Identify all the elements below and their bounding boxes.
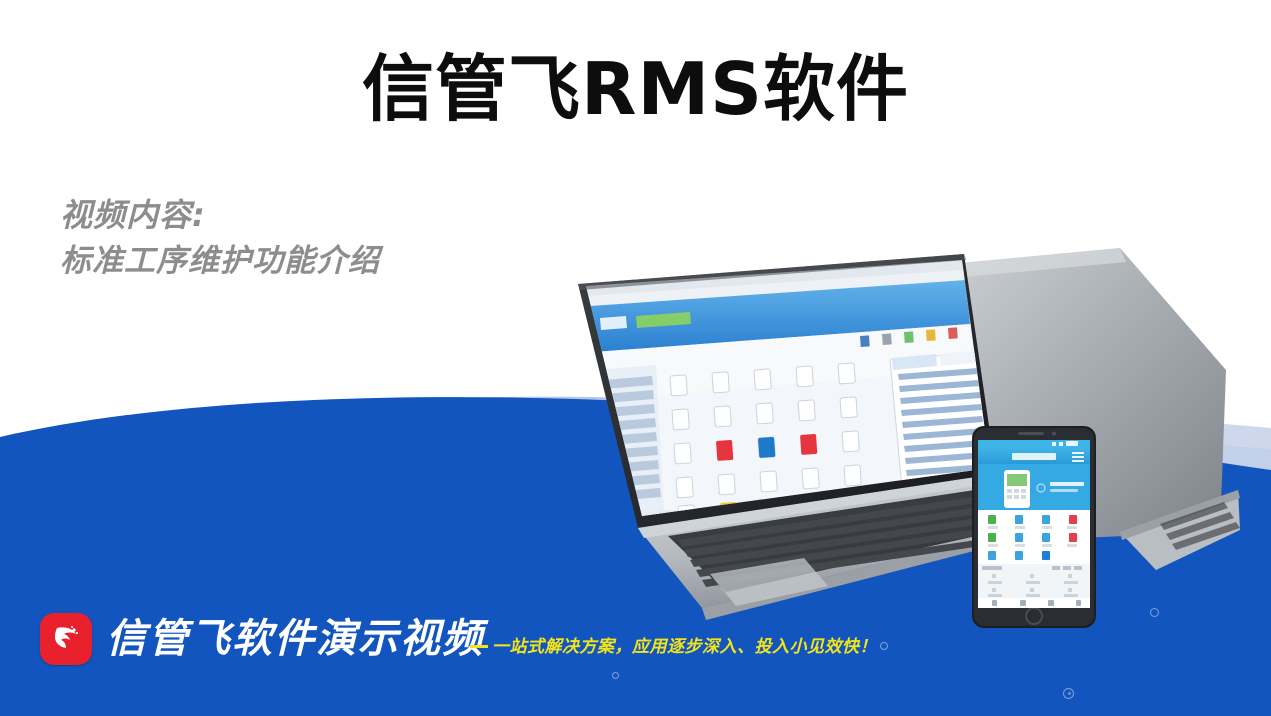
device-cluster — [560, 240, 1240, 660]
subtitle-content: 标准工序维护功能介绍 — [60, 238, 580, 284]
front-laptop — [578, 254, 1032, 620]
brand-text: 信管飞软件演示视频 — [106, 615, 484, 663]
decor-dot-5 — [612, 672, 619, 679]
brand-logo-icon — [40, 613, 92, 665]
subtitle-block: 视频内容: 标准工序维护功能介绍 — [60, 192, 580, 284]
tagline-text: 一站式解决方案，应用逐步深入、投入小见效快！ — [492, 636, 877, 658]
subtitle-label: 视频内容: — [60, 192, 580, 238]
page-title: 信管飞RMS软件 — [0, 46, 1271, 132]
tagline-dash — [470, 645, 488, 648]
smartphone — [972, 426, 1096, 628]
decor-dot-3 — [1068, 692, 1071, 695]
phone-screen — [978, 440, 1090, 608]
bottom-banner: 信管飞软件演示视频 — [40, 608, 484, 670]
slide-root: 信管飞RMS软件 视频内容: 标准工序维护功能介绍 — [0, 0, 1271, 716]
